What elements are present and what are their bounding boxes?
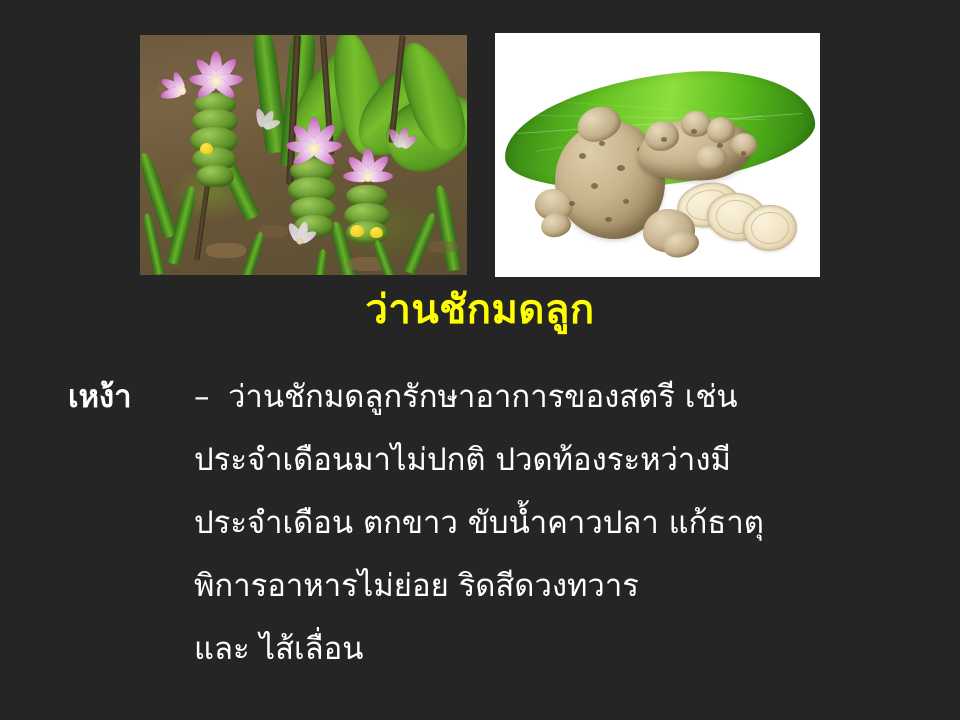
content-row: เหง้า – ว่านชักมดลูกรักษาอาการของสตรี เช… xyxy=(0,366,960,429)
curcuma-flower-photo xyxy=(140,35,467,275)
photo-strip xyxy=(0,0,960,290)
rhizome-photo xyxy=(495,33,820,277)
content-line-3: ประจำเดือน ตกขาว ขับน้ำคาวปลา แก้ธาตุ xyxy=(194,492,764,555)
content-block: เหง้า – ว่านชักมดลูกรักษาอาการของสตรี เช… xyxy=(0,366,960,681)
dash-separator: – xyxy=(194,366,210,429)
content-line-5: และ ไส้เลื่อน xyxy=(194,618,363,681)
content-row: และ ไส้เลื่อน xyxy=(0,618,960,681)
content-row: ประจำเดือน ตกขาว ขับน้ำคาวปลา แก้ธาตุ xyxy=(0,492,960,555)
content-line-4: พิการอาหารไม่ย่อย ริดสีดวงทวาร xyxy=(194,555,639,618)
content-line-1: ว่านชักมดลูกรักษาอาการของสตรี เช่น xyxy=(228,366,738,429)
content-row: ประจำเดือนมาไม่ปกติ ปวดท้องระหว่างมี xyxy=(0,429,960,492)
content-line-2: ประจำเดือนมาไม่ปกติ ปวดท้องระหว่างมี xyxy=(194,429,731,492)
slide-title: ว่านชักมดลูก xyxy=(0,288,960,332)
term-label: เหง้า xyxy=(68,366,132,429)
content-row: พิการอาหารไม่ย่อย ริดสีดวงทวาร xyxy=(0,555,960,618)
